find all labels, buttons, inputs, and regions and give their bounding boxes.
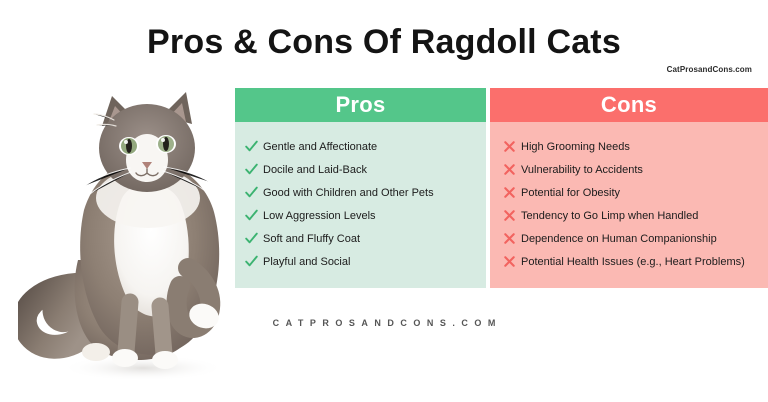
cross-icon	[502, 162, 517, 177]
list-item: Gentle and Affectionate	[235, 135, 486, 158]
list-item: Low Aggression Levels	[235, 204, 486, 227]
check-icon	[244, 254, 259, 269]
cons-list: High Grooming Needs Vulnerability to Acc…	[490, 135, 768, 273]
page-title: Pros & Cons Of Ragdoll Cats	[0, 22, 768, 62]
cross-icon	[502, 254, 517, 269]
footer-website: CATPROSANDCONS.COM	[0, 318, 768, 328]
pros-panel-body: Gentle and Affectionate Docile and Laid-…	[235, 122, 486, 288]
list-item-label: Vulnerability to Accidents	[521, 164, 643, 176]
ragdoll-cat-photo	[18, 80, 268, 385]
list-item: High Grooming Needs	[490, 135, 768, 158]
list-item: Potential for Obesity	[490, 181, 768, 204]
list-item: Potential Health Issues (e.g., Heart Pro…	[490, 250, 768, 273]
pros-panel: Pros Gentle and Affectionate Docile and …	[235, 88, 486, 288]
list-item: Soft and Fluffy Coat	[235, 227, 486, 250]
list-item-label: Low Aggression Levels	[263, 210, 376, 222]
pros-panel-heading: Pros	[235, 88, 486, 122]
list-item-label: Good with Children and Other Pets	[263, 187, 434, 199]
cons-panel-heading: Cons	[490, 88, 768, 122]
pros-list: Gentle and Affectionate Docile and Laid-…	[235, 135, 486, 273]
list-item-label: Docile and Laid-Back	[263, 164, 367, 176]
list-item: Vulnerability to Accidents	[490, 158, 768, 181]
list-item-label: High Grooming Needs	[521, 141, 630, 153]
list-item-label: Potential Health Issues (e.g., Heart Pro…	[521, 256, 745, 268]
list-item: Good with Children and Other Pets	[235, 181, 486, 204]
cross-icon	[502, 139, 517, 154]
cons-panel-body: High Grooming Needs Vulnerability to Acc…	[490, 122, 768, 288]
check-icon	[244, 162, 259, 177]
check-icon	[244, 208, 259, 223]
list-item: Playful and Social	[235, 250, 486, 273]
cons-panel: Cons High Grooming Needs Vulnerability t…	[490, 88, 768, 288]
list-item-label: Tendency to Go Limp when Handled	[521, 210, 698, 222]
infographic-canvas: Pros & Cons Of Ragdoll Cats CatProsandCo…	[0, 0, 768, 402]
check-icon	[244, 139, 259, 154]
cross-icon	[502, 185, 517, 200]
list-item-label: Potential for Obesity	[521, 187, 620, 199]
list-item-label: Gentle and Affectionate	[263, 141, 377, 153]
list-item-label: Soft and Fluffy Coat	[263, 233, 360, 245]
check-icon	[244, 231, 259, 246]
check-icon	[244, 185, 259, 200]
list-item-label: Playful and Social	[263, 256, 350, 268]
site-credit: CatProsandCons.com	[667, 65, 752, 74]
list-item-label: Dependence on Human Companionship	[521, 233, 717, 245]
cross-icon	[502, 231, 517, 246]
list-item: Docile and Laid-Back	[235, 158, 486, 181]
list-item: Tendency to Go Limp when Handled	[490, 204, 768, 227]
cross-icon	[502, 208, 517, 223]
list-item: Dependence on Human Companionship	[490, 227, 768, 250]
